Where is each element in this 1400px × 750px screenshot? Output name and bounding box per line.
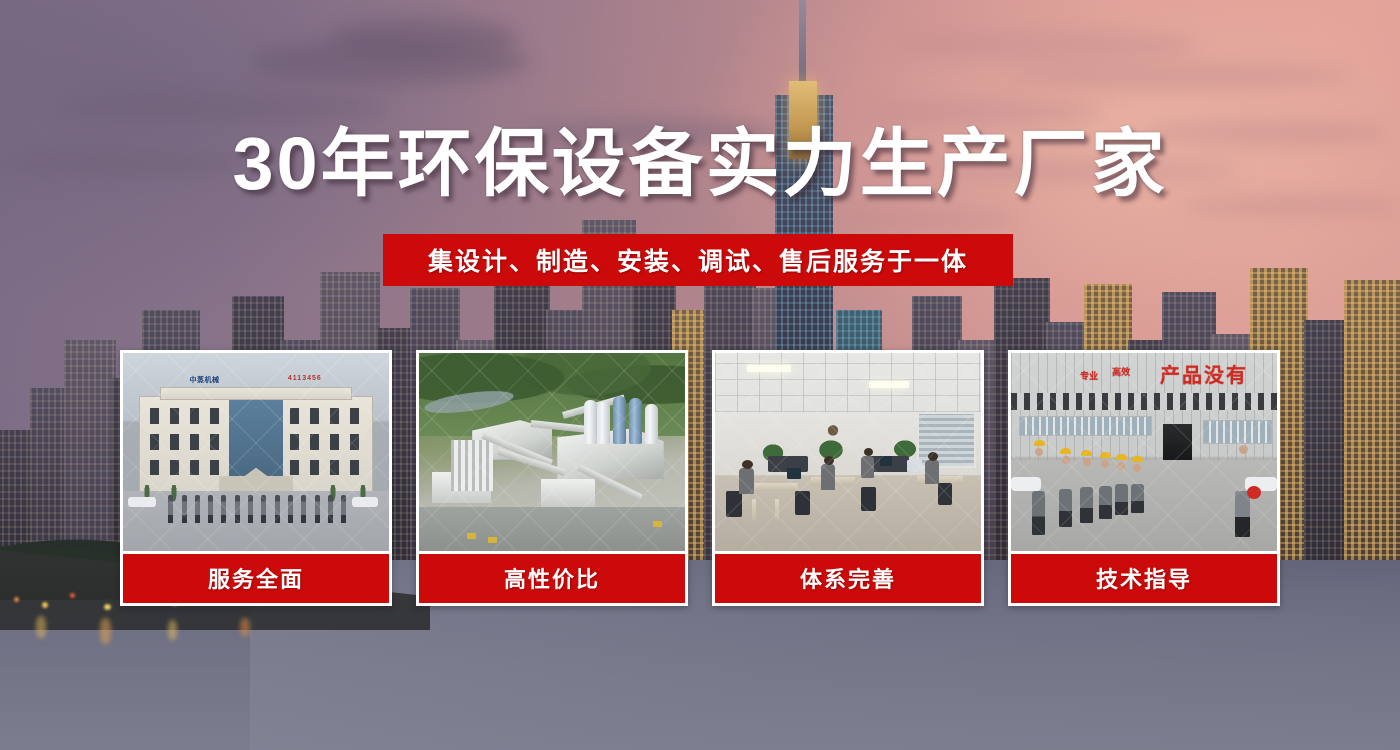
feature-card-system[interactable]: 体系完善 xyxy=(712,350,984,606)
card-caption-bar: 服务全面 xyxy=(123,554,389,603)
card-photo-workers: 产品没有 专业 高效 xyxy=(1011,353,1277,551)
factory-sign-small-1: 专业 xyxy=(1080,369,1098,382)
feature-card-service[interactable]: 中蒸机械 4113456 xyxy=(120,350,392,606)
subtitle-banner: 集设计、制造、安装、调试、售后服务于一体 xyxy=(383,234,1013,286)
card-caption-text: 体系完善 xyxy=(800,562,896,594)
page-title: 30年环保设备实力生产厂家 xyxy=(0,127,1400,201)
card-caption-text: 技术指导 xyxy=(1096,562,1192,594)
card-photo-headquarters: 中蒸机械 4113456 xyxy=(123,353,389,551)
factory-sign-main: 产品没有 xyxy=(1160,359,1248,388)
subtitle-text: 集设计、制造、安装、调试、售后服务于一体 xyxy=(428,242,968,278)
promo-banner: 30年环保设备实力生产厂家 集设计、制造、安装、调试、售后服务于一体 xyxy=(0,0,1400,750)
card-photo-plant-aerial xyxy=(419,353,685,551)
feature-card-value[interactable]: 高性价比 xyxy=(416,350,688,606)
card-photo-office xyxy=(715,353,981,551)
card-caption-text: 高性价比 xyxy=(504,562,600,594)
feature-card-training[interactable]: 产品没有 专业 高效 xyxy=(1008,350,1280,606)
building-sign-company: 中蒸机械 xyxy=(190,375,220,385)
feature-card-list: 中蒸机械 4113456 xyxy=(120,350,1280,606)
card-caption-text: 服务全面 xyxy=(208,562,304,594)
card-caption-bar: 技术指导 xyxy=(1011,554,1277,603)
building-sign-phone: 4113456 xyxy=(288,375,322,382)
card-caption-bar: 高性价比 xyxy=(419,554,685,603)
factory-sign-small-2: 高效 xyxy=(1112,365,1130,378)
card-caption-bar: 体系完善 xyxy=(715,554,981,603)
